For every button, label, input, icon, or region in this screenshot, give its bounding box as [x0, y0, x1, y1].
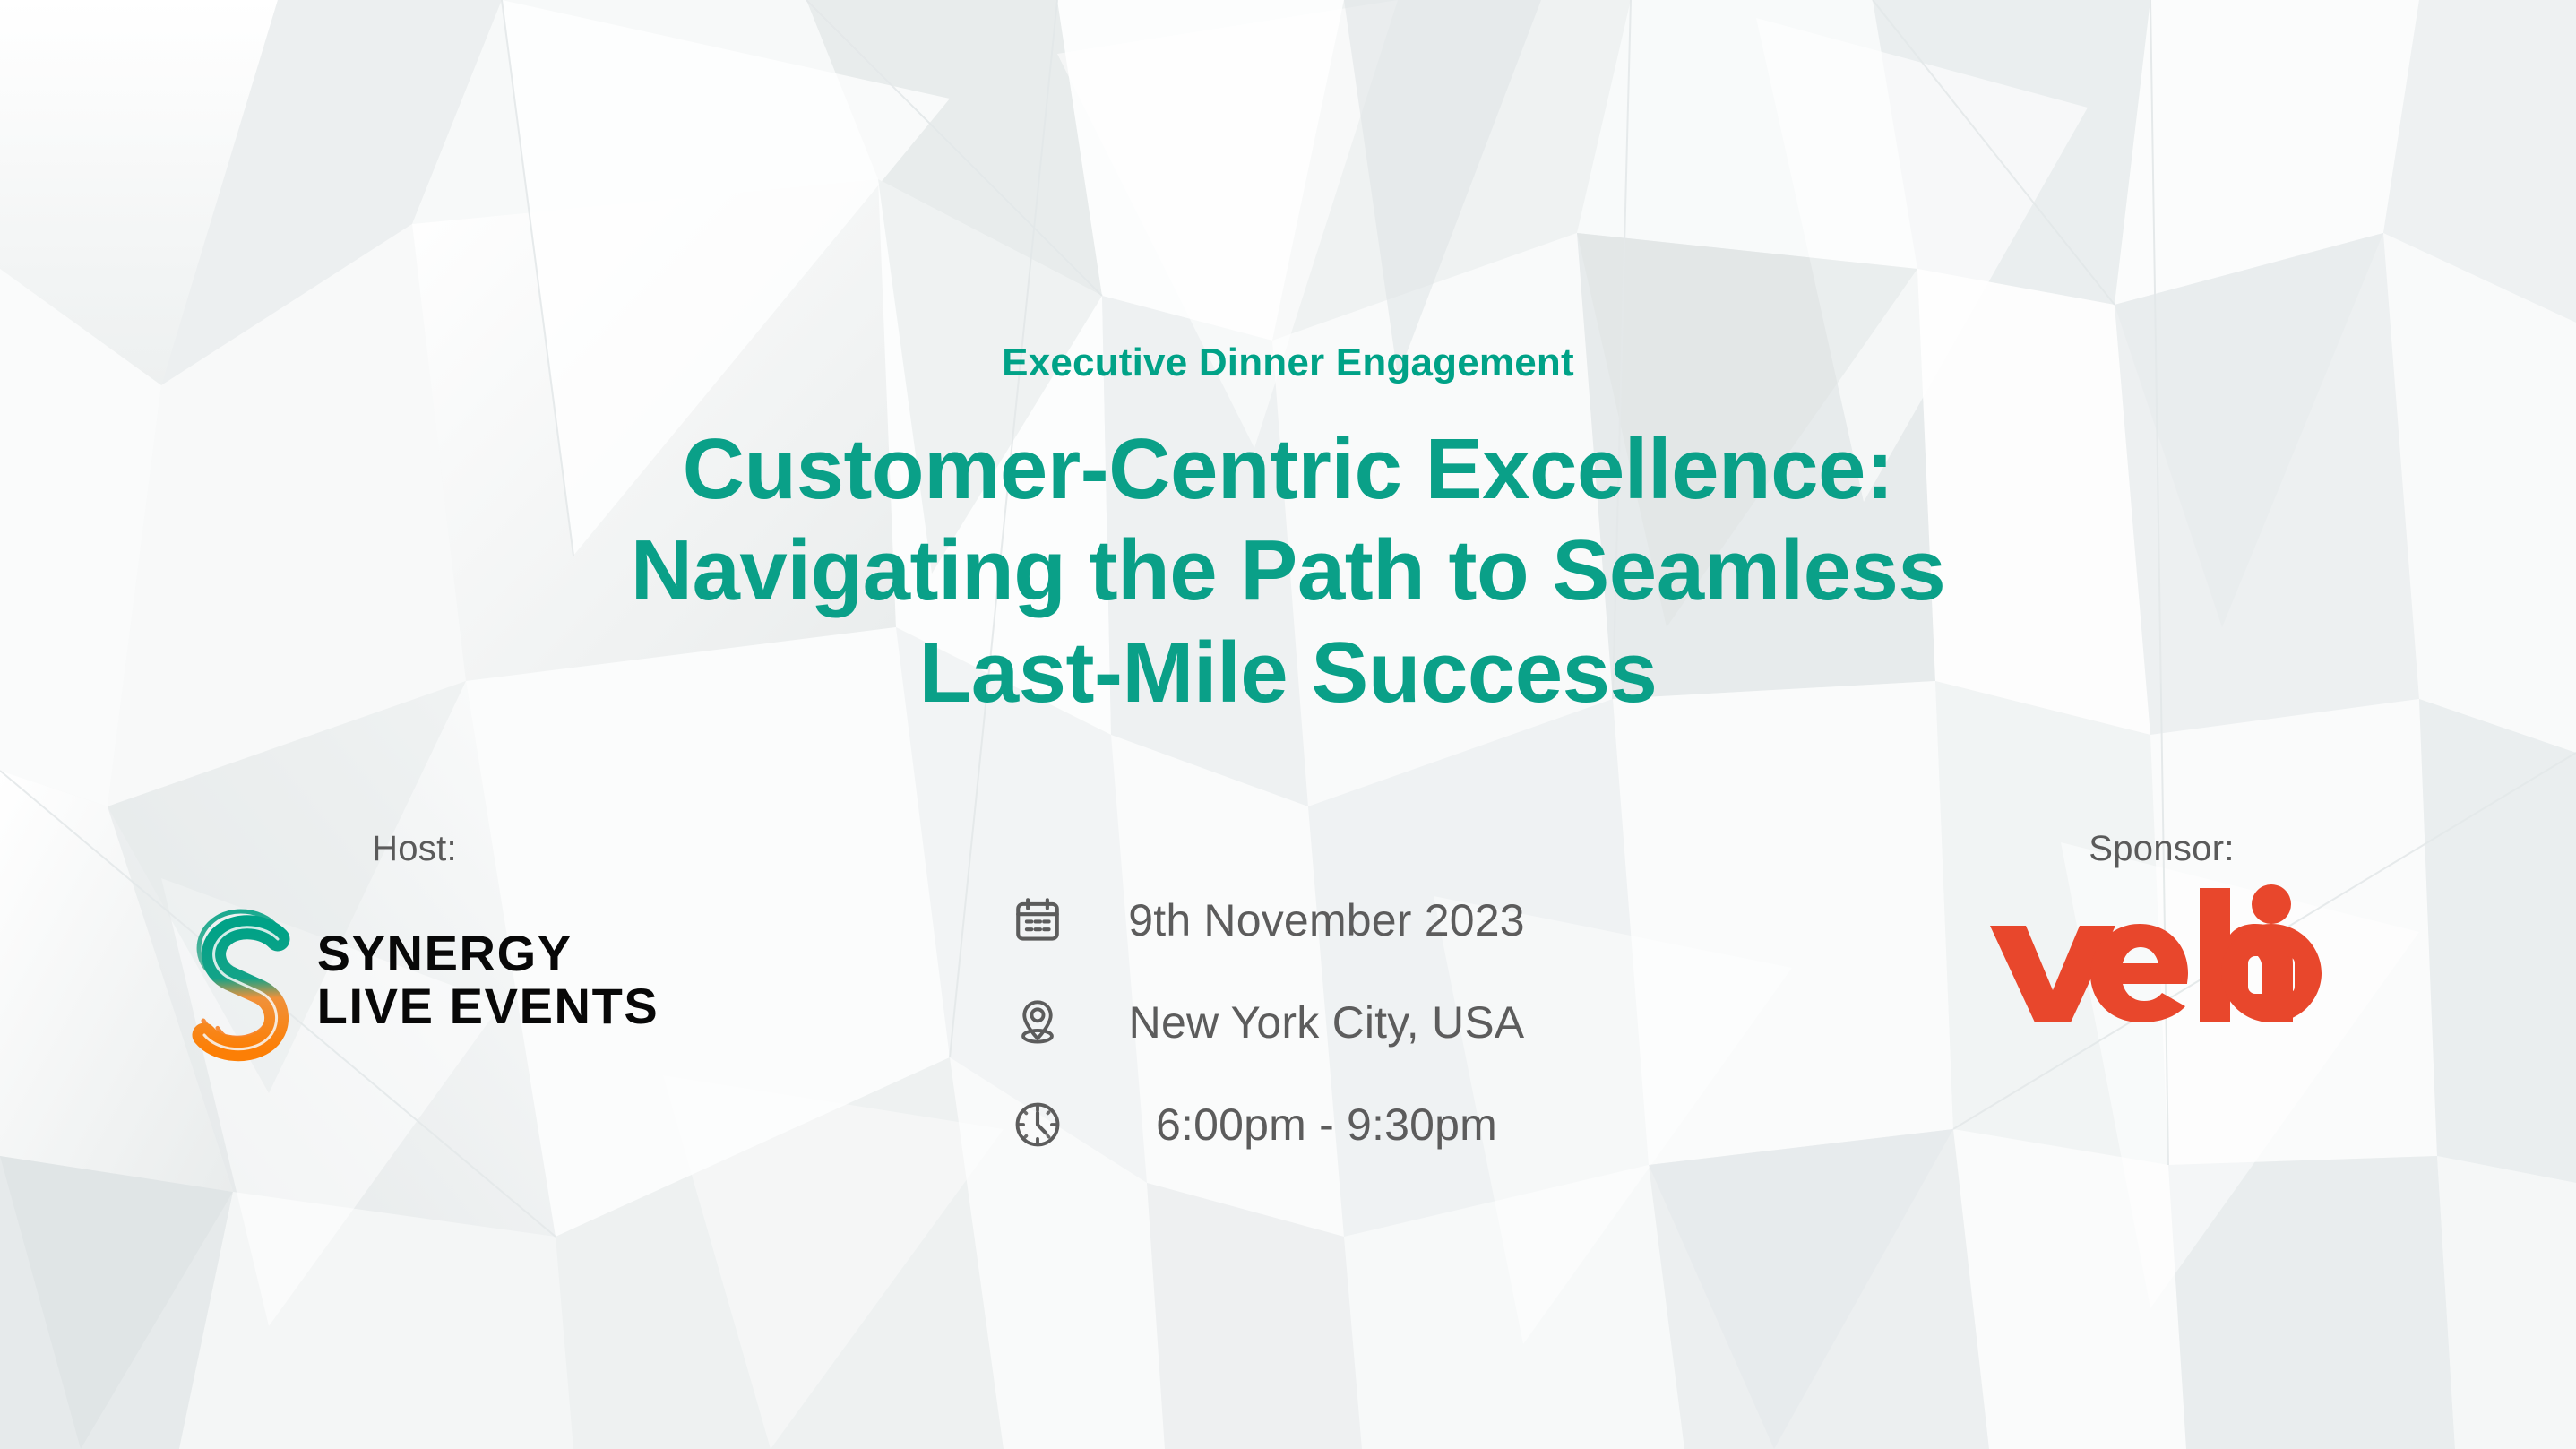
host-label: Host: [372, 831, 457, 867]
detail-row-date: 9th November 2023 [999, 877, 1578, 963]
calendar-icon [999, 894, 1076, 946]
synergy-s-mark-icon [161, 890, 332, 1069]
detail-value-location: New York City, USA [1076, 996, 1578, 1048]
synergy-live-events-logo: SYNERGY LIVE EVENTS [161, 890, 659, 1069]
event-eyebrow: Executive Dinner Engagement [1002, 343, 1574, 383]
event-banner: Executive Dinner Engagement Customer-Cen… [0, 0, 2576, 1449]
sponsor-column: Sponsor: [1768, 831, 2556, 1026]
headline-line-3: Last-Mile Success [631, 622, 1946, 723]
page-title: Customer-Centric Excellence: Navigating … [631, 418, 1946, 723]
clock-icon [999, 1099, 1076, 1151]
detail-row-location: New York City, USA [999, 979, 1578, 1065]
headline-line-2: Navigating the Path to Seamless [631, 520, 1946, 621]
sponsor-label: Sponsor: [2089, 831, 2235, 867]
host-column: Host: [21, 831, 809, 1069]
headline-line-1: Customer-Centric Excellence: [631, 418, 1946, 520]
event-details-list: 9th November 2023 New York City, USA [999, 877, 1578, 1168]
veho-logo [1983, 883, 2341, 1026]
footer-columns: Host: [0, 831, 2576, 1168]
synergy-wordmark: SYNERGY LIVE EVENTS [317, 927, 659, 1033]
synergy-wordmark-line-2: LIVE EVENTS [317, 979, 659, 1032]
synergy-wordmark-line-1: SYNERGY [317, 927, 659, 979]
detail-value-date: 9th November 2023 [1076, 894, 1578, 946]
detail-value-time: 6:00pm - 9:30pm [1076, 1099, 1578, 1151]
detail-row-time: 6:00pm - 9:30pm [999, 1082, 1578, 1168]
location-pin-icon [999, 996, 1076, 1048]
event-details-column: 9th November 2023 New York City, USA [809, 831, 1768, 1168]
